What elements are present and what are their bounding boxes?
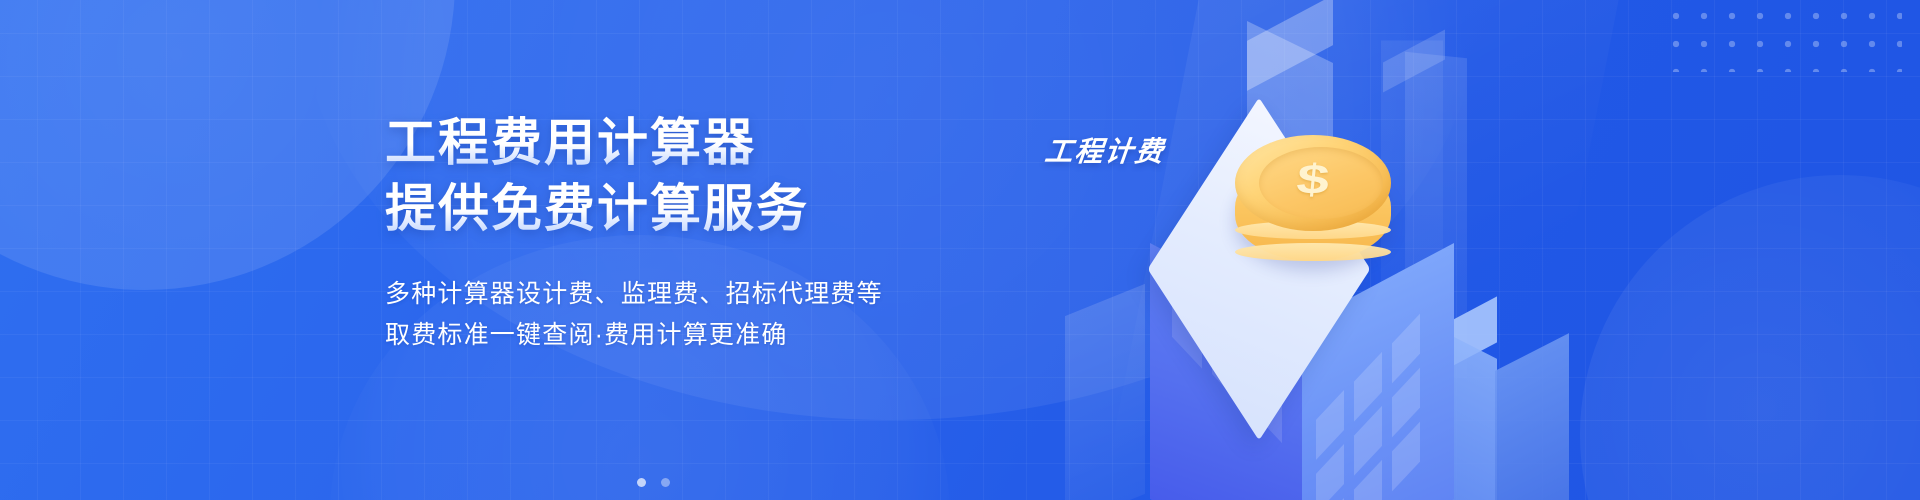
carousel-indicator[interactable] bbox=[637, 478, 670, 487]
carousel-dot-1[interactable] bbox=[637, 478, 646, 487]
banner-headline-line-1: 工程费用计算器 bbox=[385, 112, 1025, 174]
banner-illustration: $ bbox=[1105, 0, 1665, 500]
promo-banner: 工程费用计算器 提供免费计算服务 多种计算器设计费、监理费、招标代理费等 取费标… bbox=[0, 0, 1920, 500]
coin-stripe bbox=[1235, 243, 1391, 261]
illustration-badge-label: 工程计费 bbox=[1043, 130, 1167, 170]
coin-face: $ bbox=[1235, 135, 1391, 231]
banner-subtitle-line-1: 多种计算器设计费、监理费、招标代理费等 bbox=[385, 274, 1025, 315]
foreground-block-right bbox=[1495, 333, 1569, 500]
banner-copy-block: 工程费用计算器 提供免费计算服务 多种计算器设计费、监理费、招标代理费等 取费标… bbox=[385, 112, 1025, 356]
gold-coin-icon: $ bbox=[1227, 135, 1399, 275]
carousel-dot-2[interactable] bbox=[661, 478, 670, 487]
banner-subtitle-line-2: 取费标准一键查阅·费用计算更准确 bbox=[385, 315, 1025, 356]
dollar-sign-icon: $ bbox=[1233, 159, 1393, 201]
banner-subtitle-block: 多种计算器设计费、监理费、招标代理费等 取费标准一键查阅·费用计算更准确 bbox=[385, 274, 1025, 356]
background-pillar-left bbox=[1065, 284, 1145, 500]
background-dot-matrix bbox=[1662, 2, 1902, 72]
banner-headline-line-2: 提供免费计算服务 bbox=[385, 178, 1025, 240]
